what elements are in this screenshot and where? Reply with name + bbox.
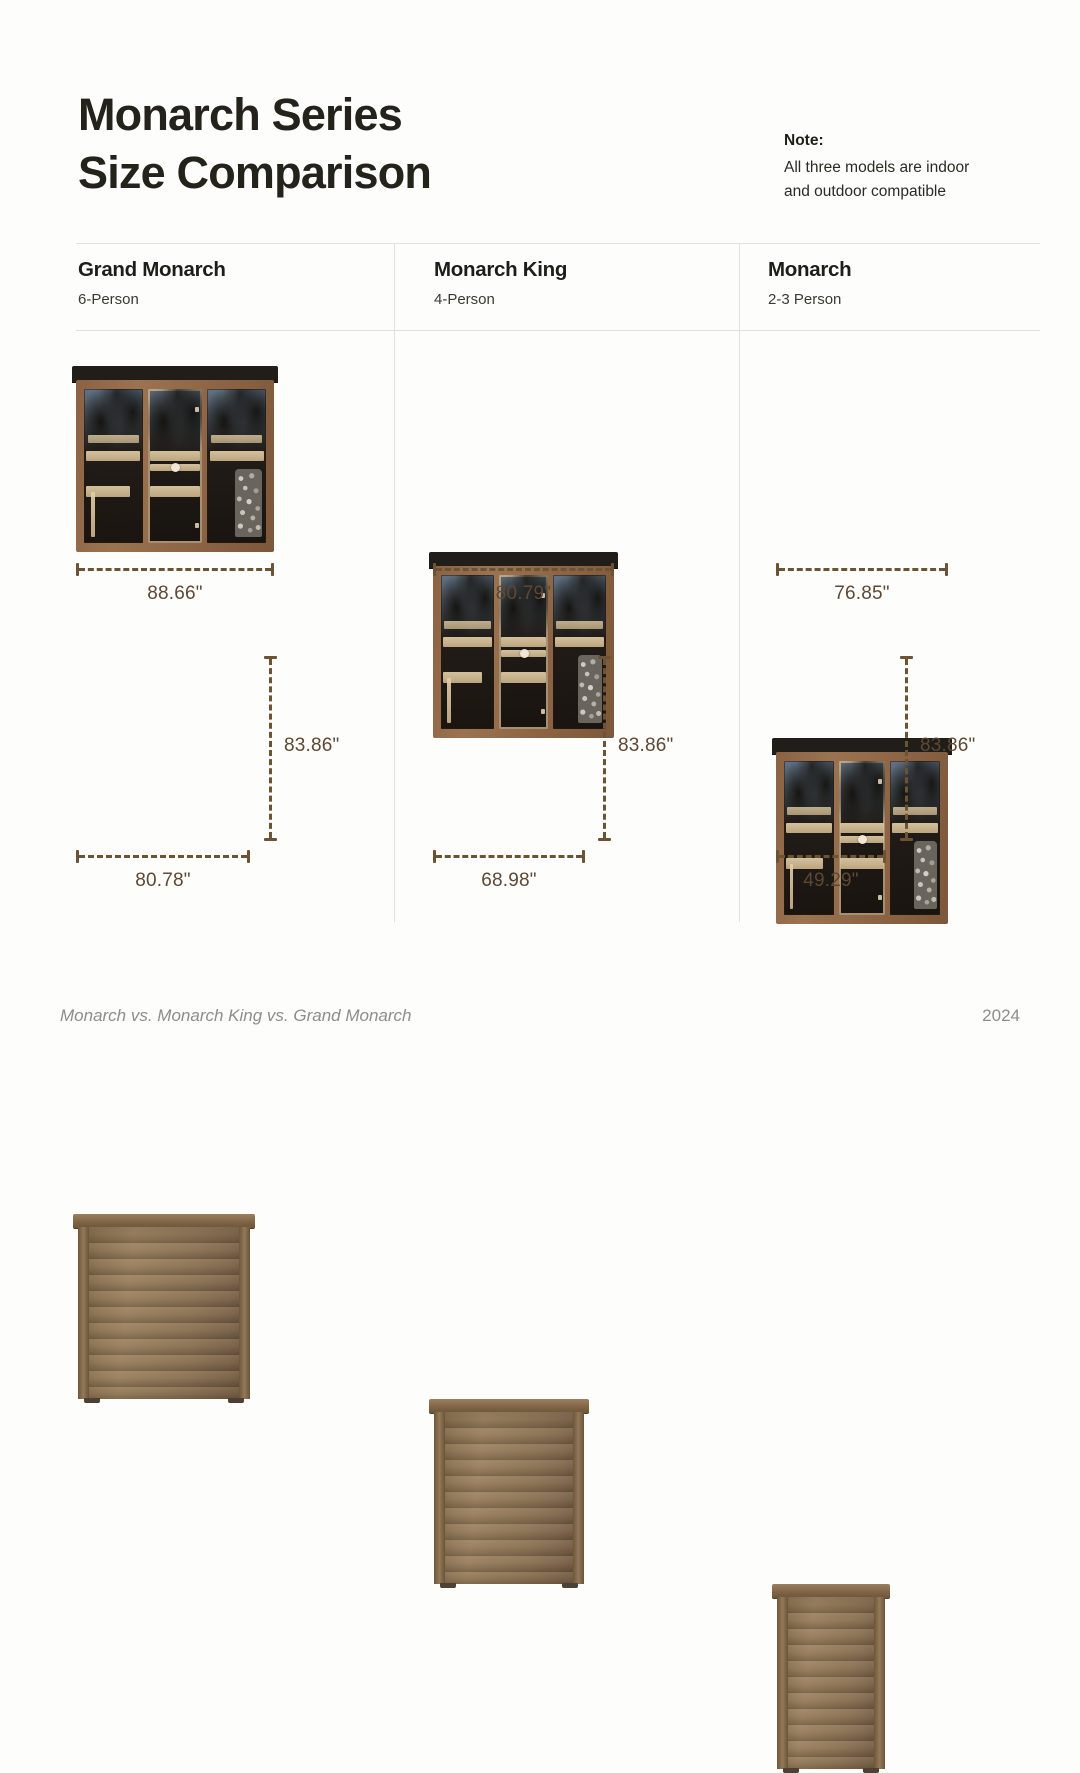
dimension-label-height-grand-monarch: 83.86" (284, 735, 340, 757)
dimension-cap-right (247, 850, 250, 863)
column-capacity: 4-Person (434, 291, 724, 308)
header-divider-bottom (76, 330, 1040, 331)
sauna-body (76, 380, 274, 552)
footer: Monarch vs. Monarch King vs. Grand Monar… (60, 1006, 1020, 1026)
dimension-cap-bottom (598, 838, 611, 841)
door-hinge-bottom-icon (541, 709, 545, 714)
front-view-monarch-king (433, 552, 614, 738)
rear-foot-right (562, 1583, 578, 1588)
header-divider-top (76, 243, 1040, 244)
dimension-cap-right (611, 563, 614, 576)
bench-upper (555, 637, 604, 648)
column-header-monarch: Monarch 2-3 Person (768, 258, 1048, 308)
dimension-label-depth-monarch-king: 68.98" (433, 870, 585, 892)
column-divider-2 (739, 243, 740, 922)
dimension-label-height-monarch: 83.86" (920, 735, 976, 757)
bench-lower (501, 672, 547, 683)
dimension-dashes (779, 855, 883, 858)
rear-view-monarch-king (434, 1399, 584, 1584)
dimension-line-height-monarch (900, 656, 912, 841)
dimension-line-depth-monarch-king (433, 850, 585, 862)
bench-backrest (556, 621, 602, 629)
dimension-dashes (603, 659, 606, 838)
dimension-cap-right (271, 563, 274, 576)
bench-leg (91, 492, 95, 537)
rear-foot-left (84, 1398, 100, 1403)
infographic-page: Monarch Series Size Comparison Note: All… (0, 0, 1080, 1080)
stone-heater (914, 841, 937, 909)
bench-upper (150, 451, 200, 462)
rear-foot-left (440, 1583, 456, 1588)
bench-backrest (211, 435, 263, 443)
dimension-line-width-monarch-king (433, 563, 614, 575)
bench-upper (86, 451, 140, 462)
rear-corner-post-right (239, 1227, 250, 1399)
rear-corner-post-left (777, 1597, 788, 1769)
bench-upper (501, 637, 547, 648)
stone-heater (235, 469, 262, 537)
dimension-cap-right (883, 850, 886, 863)
rear-corner-post-right (874, 1597, 885, 1769)
column-header-grand-monarch: Grand Monarch 6-Person (78, 258, 378, 308)
door-hinge-bottom-icon (878, 895, 882, 900)
glass-door[interactable] (148, 389, 203, 543)
rear-siding-panels (434, 1412, 584, 1584)
dimension-label-width-monarch-king: 80.79" (433, 583, 614, 605)
dimension-dashes (905, 659, 908, 838)
column-title: Grand Monarch (78, 258, 378, 282)
bench-backrest (787, 807, 831, 815)
door-handle-icon[interactable] (858, 835, 867, 844)
window-left-pane (84, 389, 143, 543)
column-capacity: 6-Person (78, 291, 378, 308)
dimension-label-width-grand-monarch: 88.66" (76, 583, 274, 605)
bench-upper (786, 823, 832, 834)
bench-upper (443, 637, 492, 648)
rear-foot-right (228, 1398, 244, 1403)
rear-view-grand-monarch (78, 1214, 250, 1399)
dimension-line-width-monarch (776, 563, 948, 575)
bench-backrest (88, 435, 140, 443)
dimension-line-depth-grand-monarch (76, 850, 250, 862)
door-handle-icon[interactable] (171, 463, 180, 472)
rear-corner-post-left (434, 1412, 445, 1584)
dimension-cap-bottom (900, 838, 913, 841)
dimension-line-depth-monarch (776, 850, 886, 862)
rear-foot-right (863, 1768, 879, 1773)
rear-corner-post-left (78, 1227, 89, 1399)
footer-year: 2024 (982, 1006, 1020, 1026)
bench-backrest (444, 621, 490, 629)
rear-view-monarch (777, 1584, 885, 1769)
note-block: Note: All three models are indoor and ou… (784, 132, 1080, 205)
dimension-dashes (269, 659, 272, 838)
column-header-monarch-king: Monarch King 4-Person (434, 258, 724, 308)
dimension-dashes (436, 568, 611, 571)
dimension-line-height-monarch-king (598, 656, 610, 841)
bench-upper (840, 823, 883, 834)
note-label: Note: (784, 132, 1080, 150)
dimension-label-depth-monarch: 49.29" (776, 870, 886, 892)
dimension-cap-right (582, 850, 585, 863)
rear-siding-panels (78, 1227, 250, 1399)
front-view-monarch (776, 738, 948, 924)
door-hinge-top-icon (878, 779, 882, 784)
footer-caption: Monarch vs. Monarch King vs. Grand Monar… (60, 1006, 411, 1026)
dimension-dashes (436, 855, 582, 858)
rear-corner-post-right (573, 1412, 584, 1584)
dimension-label-height-monarch-king: 83.86" (618, 735, 674, 757)
dimension-dashes (79, 568, 271, 571)
bench-lower (150, 486, 200, 497)
front-view-grand-monarch (76, 366, 274, 552)
dimension-label-depth-grand-monarch: 80.78" (76, 870, 250, 892)
window-right-pane (207, 389, 266, 543)
column-title: Monarch (768, 258, 1048, 282)
column-title: Monarch King (434, 258, 724, 282)
door-hinge-bottom-icon (195, 523, 199, 528)
dimension-dashes (79, 855, 247, 858)
rear-foot-left (783, 1768, 799, 1773)
rear-siding-panels (777, 1597, 885, 1769)
column-capacity: 2-3 Person (768, 291, 1048, 308)
bench-upper (210, 451, 264, 462)
dimension-line-width-grand-monarch (76, 563, 274, 575)
window-right-pane (890, 761, 940, 915)
header: Monarch Series Size Comparison Note: All… (78, 86, 1040, 216)
dimension-line-height-grand-monarch (264, 656, 276, 841)
note-text: All three models are indoor and outdoor … (784, 156, 1080, 205)
dimension-cap-bottom (264, 838, 277, 841)
dimension-label-width-monarch: 76.85" (776, 583, 948, 605)
dimension-cap-right (945, 563, 948, 576)
bench-leg (447, 678, 451, 723)
dimension-dashes (779, 568, 945, 571)
door-handle-icon[interactable] (520, 649, 529, 658)
sauna-body (776, 752, 948, 924)
column-divider-1 (394, 243, 395, 922)
door-hinge-top-icon (195, 407, 199, 412)
